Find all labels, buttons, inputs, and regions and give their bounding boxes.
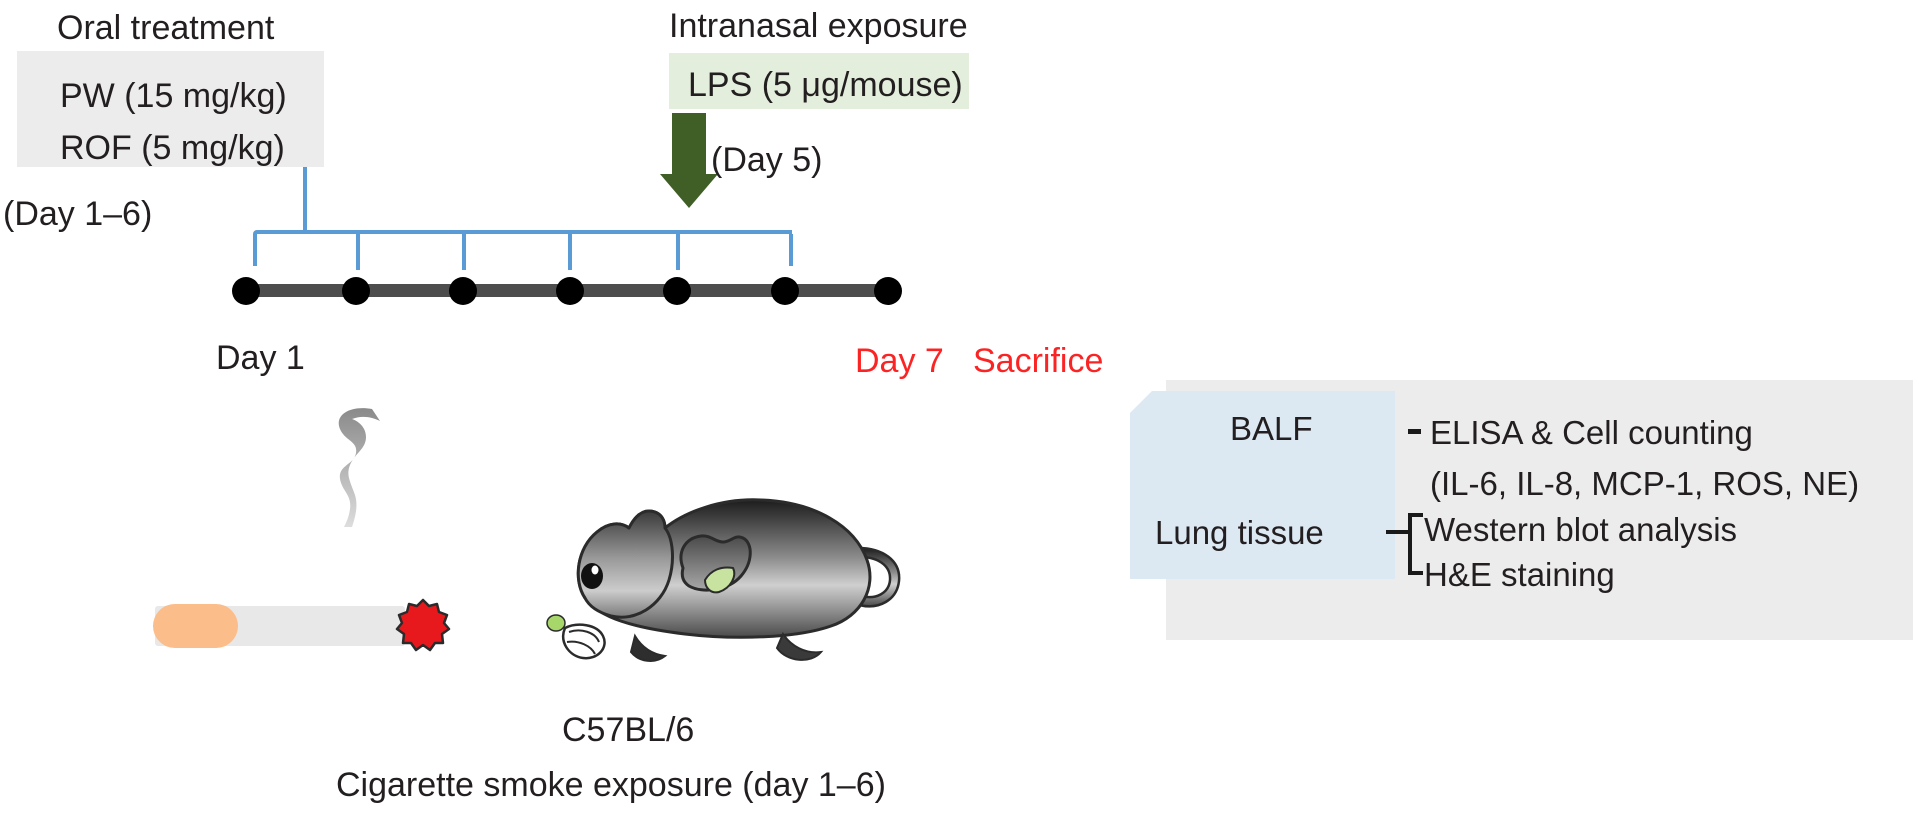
timeline-dot xyxy=(874,277,902,305)
oral-treatment-heading: Oral treatment xyxy=(57,11,274,45)
timeline-dot xyxy=(556,277,584,305)
oral-treatment-day-label: (Day 1–6) xyxy=(3,197,152,231)
mouse-strain-label: C57BL/6 xyxy=(562,713,694,747)
lps-arrow xyxy=(660,113,718,208)
oral-treatment-drug-rof: ROF (5 mg/kg) xyxy=(60,131,285,165)
intranasal-agent-label: LPS (5 μg/mouse) xyxy=(688,68,963,102)
sample-label-balf: BALF xyxy=(1230,412,1313,445)
ember-icon xyxy=(395,598,451,654)
figure-canvas: Oral treatment PW (15 mg/kg) ROF (5 mg/k… xyxy=(0,0,1913,820)
intranasal-day-label: (Day 5) xyxy=(711,143,822,177)
timeline-dot xyxy=(771,277,799,305)
analysis-balf-line-1: ELISA & Cell counting xyxy=(1430,416,1753,449)
sacrifice-label: Sacrifice xyxy=(973,344,1103,378)
intranasal-heading: Intranasal exposure xyxy=(669,9,968,43)
analysis-balf-line-2: (IL-6, IL-8, MCP-1, ROS, NE) xyxy=(1430,467,1859,500)
timeline-end-label: Day 7 xyxy=(855,344,944,378)
smoke-exposure-caption: Cigarette smoke exposure (day 1–6) xyxy=(336,768,886,802)
oral-treatment-drug-pw: PW (15 mg/kg) xyxy=(60,79,287,113)
smoke-icon xyxy=(300,403,390,528)
balf-connector-dash xyxy=(1408,429,1421,434)
timeline-dot xyxy=(342,277,370,305)
timeline-dot xyxy=(663,277,691,305)
timeline-dot xyxy=(449,277,477,305)
analysis-lung-line-1: Western blot analysis xyxy=(1424,513,1737,546)
timeline-dot xyxy=(232,277,260,305)
mouse-illustration xyxy=(525,420,905,670)
sample-label-lung-tissue: Lung tissue xyxy=(1155,516,1324,549)
cigarette-filter xyxy=(153,604,238,648)
analysis-lung-line-2: H&E staining xyxy=(1424,558,1615,591)
timeline-start-label: Day 1 xyxy=(216,341,305,375)
